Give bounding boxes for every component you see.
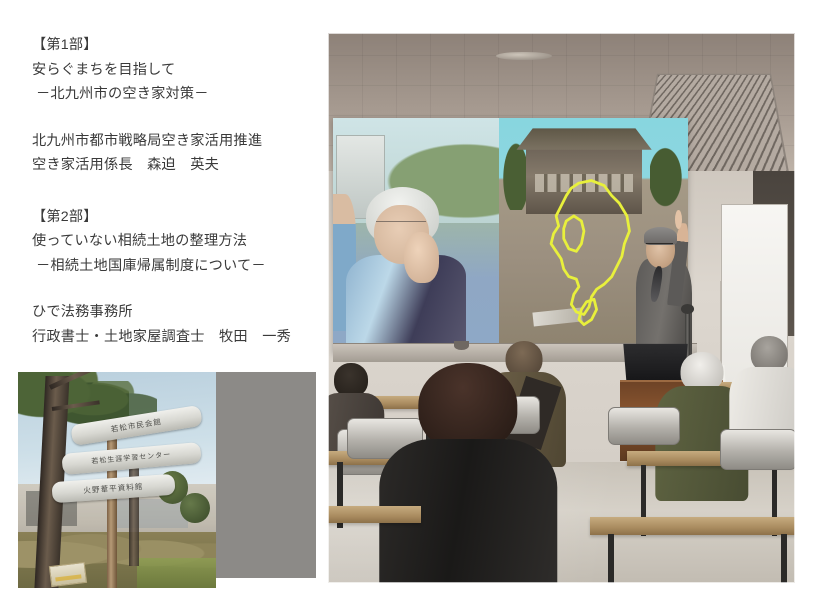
desk-front-left — [328, 506, 421, 523]
chair-back — [608, 407, 680, 445]
part2-presenter-block: ひで法務事務所 行政書士・土地家屋調査士 牧田 一秀 — [32, 300, 322, 349]
slide-text-column: 【第1部】 安らぐまちを目指して －北九州市の空き家対策－ 北九州市都市戦略局空… — [32, 33, 322, 349]
gray-placeholder-block — [216, 372, 316, 578]
part2-speaker: 行政書士・土地家屋調査士 牧田 一秀 — [32, 325, 322, 350]
ceiling-speaker-icon — [496, 52, 552, 61]
part1-heading: 【第1部】 — [32, 33, 322, 58]
screen-roller-knob — [454, 341, 469, 350]
spacer-2 — [32, 178, 322, 205]
part1-affiliation: 北九州市都市戦略局空き家活用推進 — [32, 129, 322, 154]
part1-subtitle: －北九州市の空き家対策－ — [32, 82, 322, 107]
part1-presenter-block: 北九州市都市戦略局空き家活用推進 空き家活用係長 森迫 英夫 — [32, 129, 322, 178]
part1-block: 【第1部】 安らぐまちを目指して －北九州市の空き家対策－ — [32, 33, 322, 107]
part2-subtitle: －相続土地国庫帰属制度について－ — [32, 254, 322, 279]
part2-heading: 【第2部】 — [32, 205, 322, 230]
desk-leg — [608, 534, 614, 584]
desk-front-right — [590, 517, 795, 535]
presenter-index-finger — [675, 210, 682, 229]
attendee-front-center — [379, 363, 556, 583]
spacer-3 — [32, 278, 322, 300]
part2-affiliation: ひで法務事務所 — [32, 300, 322, 325]
spacer-1 — [32, 107, 322, 129]
presenter-glasses-icon — [646, 243, 672, 252]
part1-speaker: 空き家活用係長 森迫 英夫 — [32, 153, 322, 178]
trimmed-tree-2 — [180, 493, 210, 523]
projected-woman-hand — [404, 232, 439, 282]
part2-title: 使っていない相続土地の整理方法 — [32, 229, 322, 254]
seminar-room-photo — [328, 33, 795, 583]
part1-title: 安らぐまちを目指して — [32, 58, 322, 83]
desk-leg — [781, 534, 787, 584]
signboard-photo: 若松市民会館 若松生涯学習センター 火野葦平資料館 — [18, 372, 216, 588]
part2-block: 【第2部】 使っていない相続土地の整理方法 －相続土地国庫帰属制度について－ — [32, 205, 322, 279]
lawn — [137, 558, 216, 588]
attendee-head — [334, 363, 368, 397]
projector-screen — [333, 118, 688, 352]
attendee-head — [418, 363, 517, 451]
signpost — [107, 420, 117, 588]
chair-back — [720, 429, 795, 470]
projected-image-woman — [333, 118, 500, 346]
